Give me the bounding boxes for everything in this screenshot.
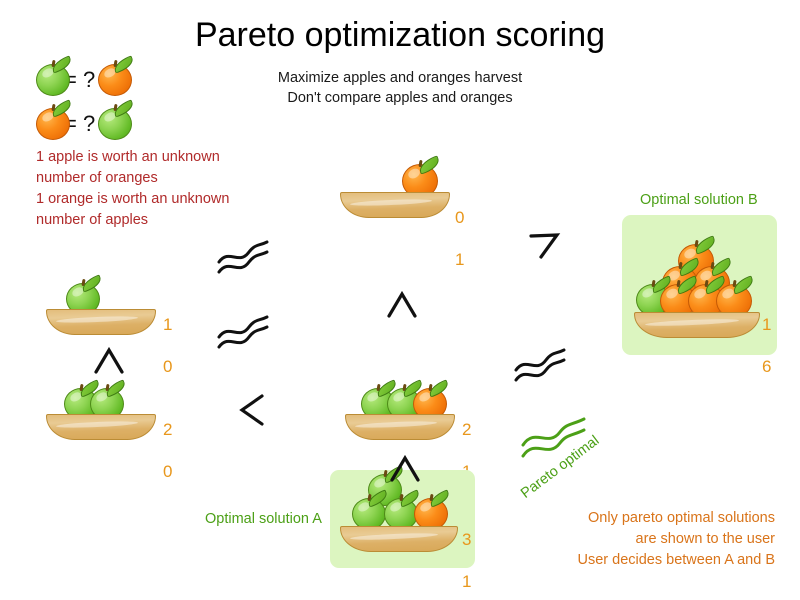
basket-2a-1o (345, 390, 455, 440)
footnote-line-2: are shown to the user (500, 529, 775, 550)
score-basket-0a-1o: 0 1 (455, 186, 464, 270)
score-apples: 3 (462, 530, 471, 549)
fruit-pile (634, 244, 760, 316)
legend-note-line-4: number of apples (36, 210, 286, 231)
greater-than-rotated-icon (385, 288, 419, 320)
basket-1a-6o (634, 250, 760, 338)
footnote: Only pareto optimal solutions are shown … (500, 508, 775, 571)
score-apples: 0 (455, 208, 464, 227)
optimal-solution-b-label: Optimal solution B (640, 192, 758, 208)
approximately-equal-icon (215, 315, 275, 351)
less-than-icon (236, 392, 268, 428)
basket-bowl (345, 414, 455, 440)
apple-icon (36, 64, 70, 96)
basket-bowl (46, 309, 156, 335)
approximately-equal-icon (512, 348, 572, 384)
score-oranges: 1 (455, 250, 464, 269)
less-than-rotated-icon (527, 230, 563, 264)
score-basket-1a-6o: 1 6 (762, 293, 771, 377)
legend-note-line-1: 1 apple is worth an unknown (36, 147, 286, 168)
basket-bowl (340, 192, 450, 218)
score-basket-2a-0o: 2 0 (163, 398, 172, 482)
score-oranges: 0 (163, 462, 172, 481)
basket-bowl (340, 526, 458, 552)
orange-icon (98, 64, 132, 96)
basket-0a-1o (340, 168, 450, 218)
legend-note-line-3: 1 orange is worth an unknown (36, 189, 286, 210)
legend-equation-orange-equals-apple: = ? (36, 102, 216, 146)
greater-than-rotated-icon (388, 452, 422, 484)
apple-icon (98, 108, 132, 140)
subtitle: Maximize apples and oranges harvest Don'… (220, 68, 580, 108)
basket-bowl (46, 414, 156, 440)
score-apples: 1 (762, 315, 771, 334)
subtitle-line-2: Don't compare apples and oranges (220, 88, 580, 108)
basket-1a-0o (46, 285, 156, 335)
legend-note-line-2: number of oranges (36, 168, 286, 189)
subtitle-line-1: Maximize apples and oranges harvest (220, 68, 580, 88)
footnote-line-3: User decides between A and B (500, 550, 775, 571)
score-oranges: 1 (462, 572, 471, 591)
orange-icon (36, 108, 70, 140)
optimal-solution-a-label: Optimal solution A (205, 511, 322, 527)
basket-3a-1o (340, 478, 458, 552)
score-apples: 1 (163, 315, 172, 334)
legend-equation-apple-equals-orange: = ? (36, 58, 216, 102)
score-basket-1a-0o: 1 0 (163, 293, 172, 377)
score-oranges: 6 (762, 357, 771, 376)
greater-than-rotated-icon (92, 344, 126, 376)
score-basket-3a-1o: 3 1 (462, 508, 471, 592)
pareto-scoring-diagram: Pareto optimization scoring Maximize app… (0, 0, 800, 600)
legend-note: 1 apple is worth an unknown number of or… (36, 147, 286, 231)
footnote-line-1: Only pareto optimal solutions (500, 508, 775, 529)
score-apples: 2 (462, 420, 471, 439)
basket-bowl (634, 312, 760, 338)
approximately-equal-icon (215, 240, 275, 276)
score-oranges: 0 (163, 357, 172, 376)
legend-equations: = ? = ? (36, 58, 216, 146)
basket-2a-0o (46, 390, 156, 440)
score-apples: 2 (163, 420, 172, 439)
page-title: Pareto optimization scoring (0, 16, 800, 55)
